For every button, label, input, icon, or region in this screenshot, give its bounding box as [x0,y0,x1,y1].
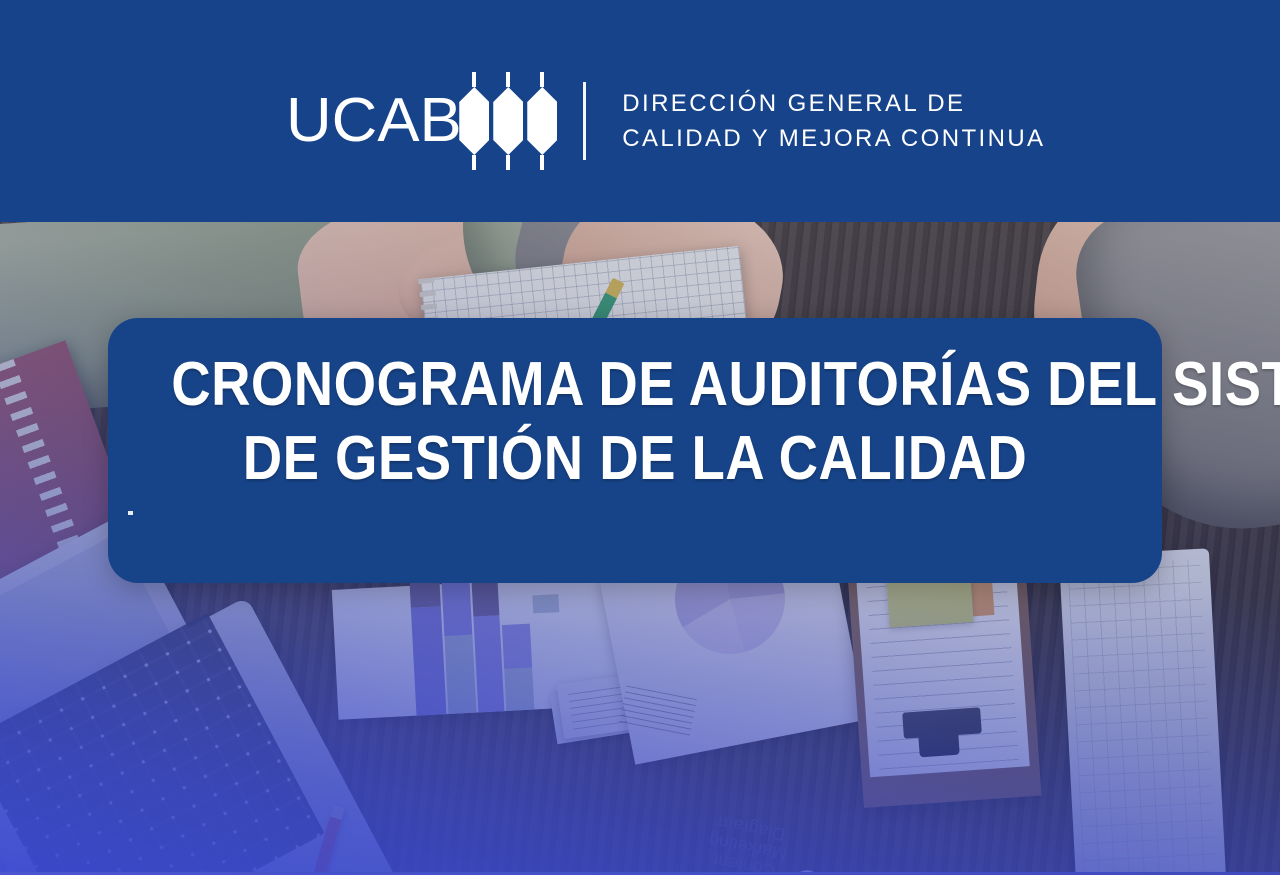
desktop-keyboard-keys [1067,559,1217,875]
ucab-wordmark: UCAB [286,90,462,152]
page-title-line-2: DE GESTIÓN DE LA CALIDAD [171,422,1099,496]
vertical-divider-icon [583,82,586,160]
department-line-2: CALIDAD Y MEJORA CONTINUA [622,121,1045,156]
brand-lockup: UCAB DIRECCIÓN GENERAL DE CALIDAD Y ME [286,78,1045,164]
ucab-logo: UCAB [286,71,557,171]
clipboard-clip-tongue [918,733,959,758]
slide-root: 10 20 30 40 Content Marketing Diagram [0,0,1280,875]
page-title-line-1: CRONOGRAMA DE AUDITORÍAS DEL SISTEMA [171,348,1099,422]
leaf-icon-2 [493,71,523,171]
title-marker-dot [128,511,133,515]
leaf-icon-3 [527,71,557,171]
ucab-three-leaves-icon [459,71,557,171]
department-line-1: DIRECCIÓN GENERAL DE [622,86,1045,121]
department-name: DIRECCIÓN GENERAL DE CALIDAD Y MEJORA CO… [622,86,1045,156]
page-title: CRONOGRAMA DE AUDITORÍAS DEL SISTEMA DE … [171,348,1099,496]
header-bar: UCAB DIRECCIÓN GENERAL DE CALIDAD Y ME [0,0,1280,222]
title-card: CRONOGRAMA DE AUDITORÍAS DEL SISTEMA DE … [108,318,1162,583]
leaf-icon-1 [459,71,489,171]
